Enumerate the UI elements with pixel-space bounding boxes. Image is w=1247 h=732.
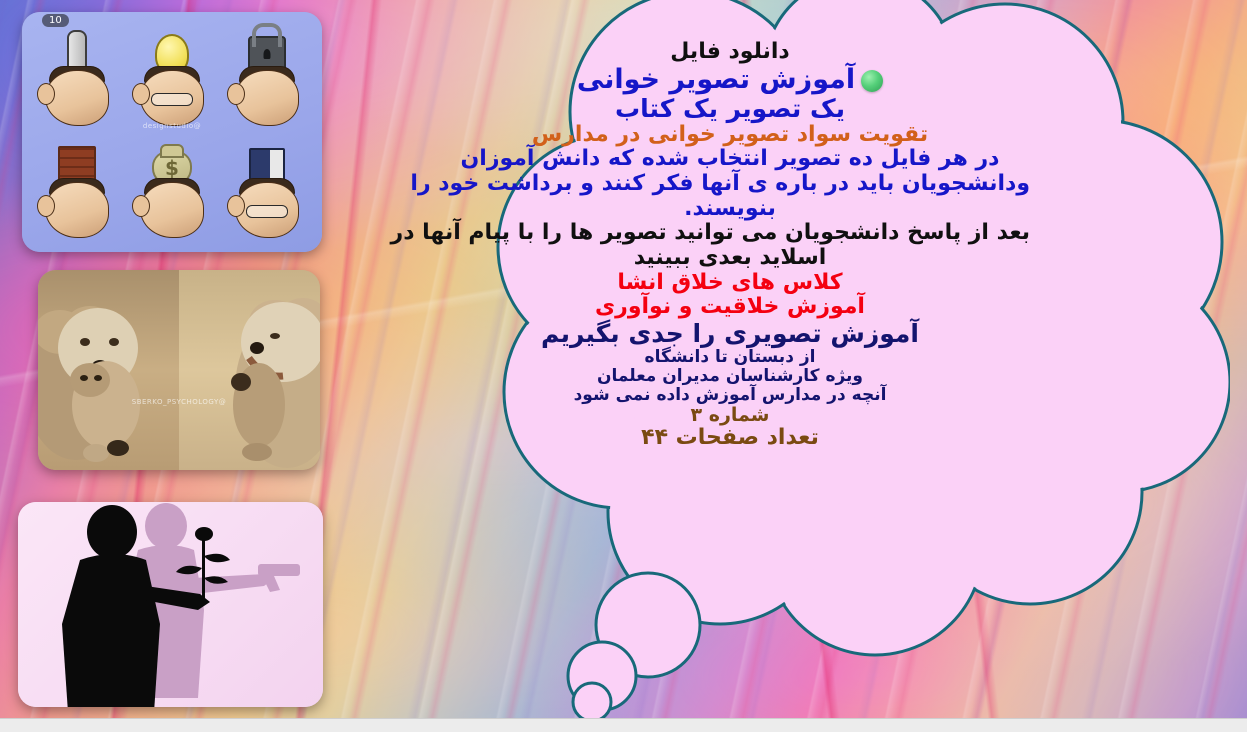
head-with-money-bag: $ [125, 132, 220, 244]
cartoon-heads-card: $ @designstudio 10 [22, 12, 322, 252]
bubble-line-6: ودانشجویان باید در باره ی آنها فکر کنند … [430, 172, 1030, 197]
glasses-icon [151, 93, 193, 106]
head-face [140, 182, 204, 238]
thought-bubble-tail [568, 573, 700, 718]
head-face [235, 70, 299, 126]
bubble-line-13: از دبستان تا دانشگاه [430, 348, 1030, 367]
bubble-line-9: اسلاید بعدی ببینید [430, 246, 1030, 271]
bubble-line-16: شماره ۳ [430, 405, 1030, 426]
bubble-line-4: تقویت سواد تصویر خوانی در مدارس [430, 123, 1030, 148]
head-face [45, 182, 109, 238]
bubble-line-5: در هر فایل ده تصویر انتخاب شده که دانش آ… [430, 147, 1030, 172]
head-with-padlock [219, 20, 314, 132]
head-with-book [219, 132, 314, 244]
glasses-icon [246, 205, 288, 218]
bubble-line-11: آموزش خلاقیت و نوآوری [430, 295, 1030, 320]
cartoon-heads-watermark: @designstudio [143, 122, 201, 130]
bubble-line-2-label: آموزش تصویر خوانی [577, 64, 855, 95]
rose-shadow-image [18, 502, 323, 707]
lioness-cubs-card: @SBERKO_PSYCHOLOGY [38, 270, 320, 470]
cartoon-heads-badge: 10 [42, 14, 69, 27]
cartoon-heads-image: $ @designstudio 10 [22, 12, 322, 252]
bottom-chrome-strip [0, 718, 1247, 732]
bubble-line-3: یک تصویر یک کتاب [430, 95, 1030, 123]
bubble-line-2: آموزش تصویر خوانی [430, 65, 1030, 95]
lioness-watermark: @SBERKO_PSYCHOLOGY [132, 398, 226, 406]
bubble-line-15: آنچه در مدارس آموزش داده نمی شود [430, 386, 1030, 405]
lioness-photo-left [38, 270, 179, 470]
head-face [45, 70, 109, 126]
bubble-line-17: تعداد صفحات ۴۴ [430, 426, 1030, 451]
bubble-line-8: بعد از پاسخ دانشجویان می توانید تصویر ها… [430, 221, 1030, 246]
bubble-line-14: ویژه کارشناسان مدیران معلمان [430, 367, 1030, 386]
bubble-text-block: دانلود فایل آموزش تصویر خوانی یک تصویر ی… [430, 40, 1030, 451]
heads-grid: $ [30, 20, 314, 244]
rose-shadow-card [18, 502, 323, 707]
lioness-cubs-image: @SBERKO_PSYCHOLOGY [38, 270, 320, 470]
head-with-knife [30, 20, 125, 132]
head-with-lightbulb [125, 20, 220, 132]
green-circle-icon [861, 70, 883, 92]
bubble-line-1: دانلود فایل [430, 40, 1030, 65]
head-with-brick [30, 132, 125, 244]
bubble-line-12: آموزش تصویری را جدی بگیریم [430, 320, 1030, 348]
bubble-line-10: کلاس های خلاق انشا [430, 271, 1030, 296]
slide-canvas: دانلود فایل آموزش تصویر خوانی یک تصویر ی… [0, 0, 1247, 718]
bubble-line-7: بنویسند. [430, 197, 1030, 222]
lioness-photo-right [179, 270, 320, 470]
